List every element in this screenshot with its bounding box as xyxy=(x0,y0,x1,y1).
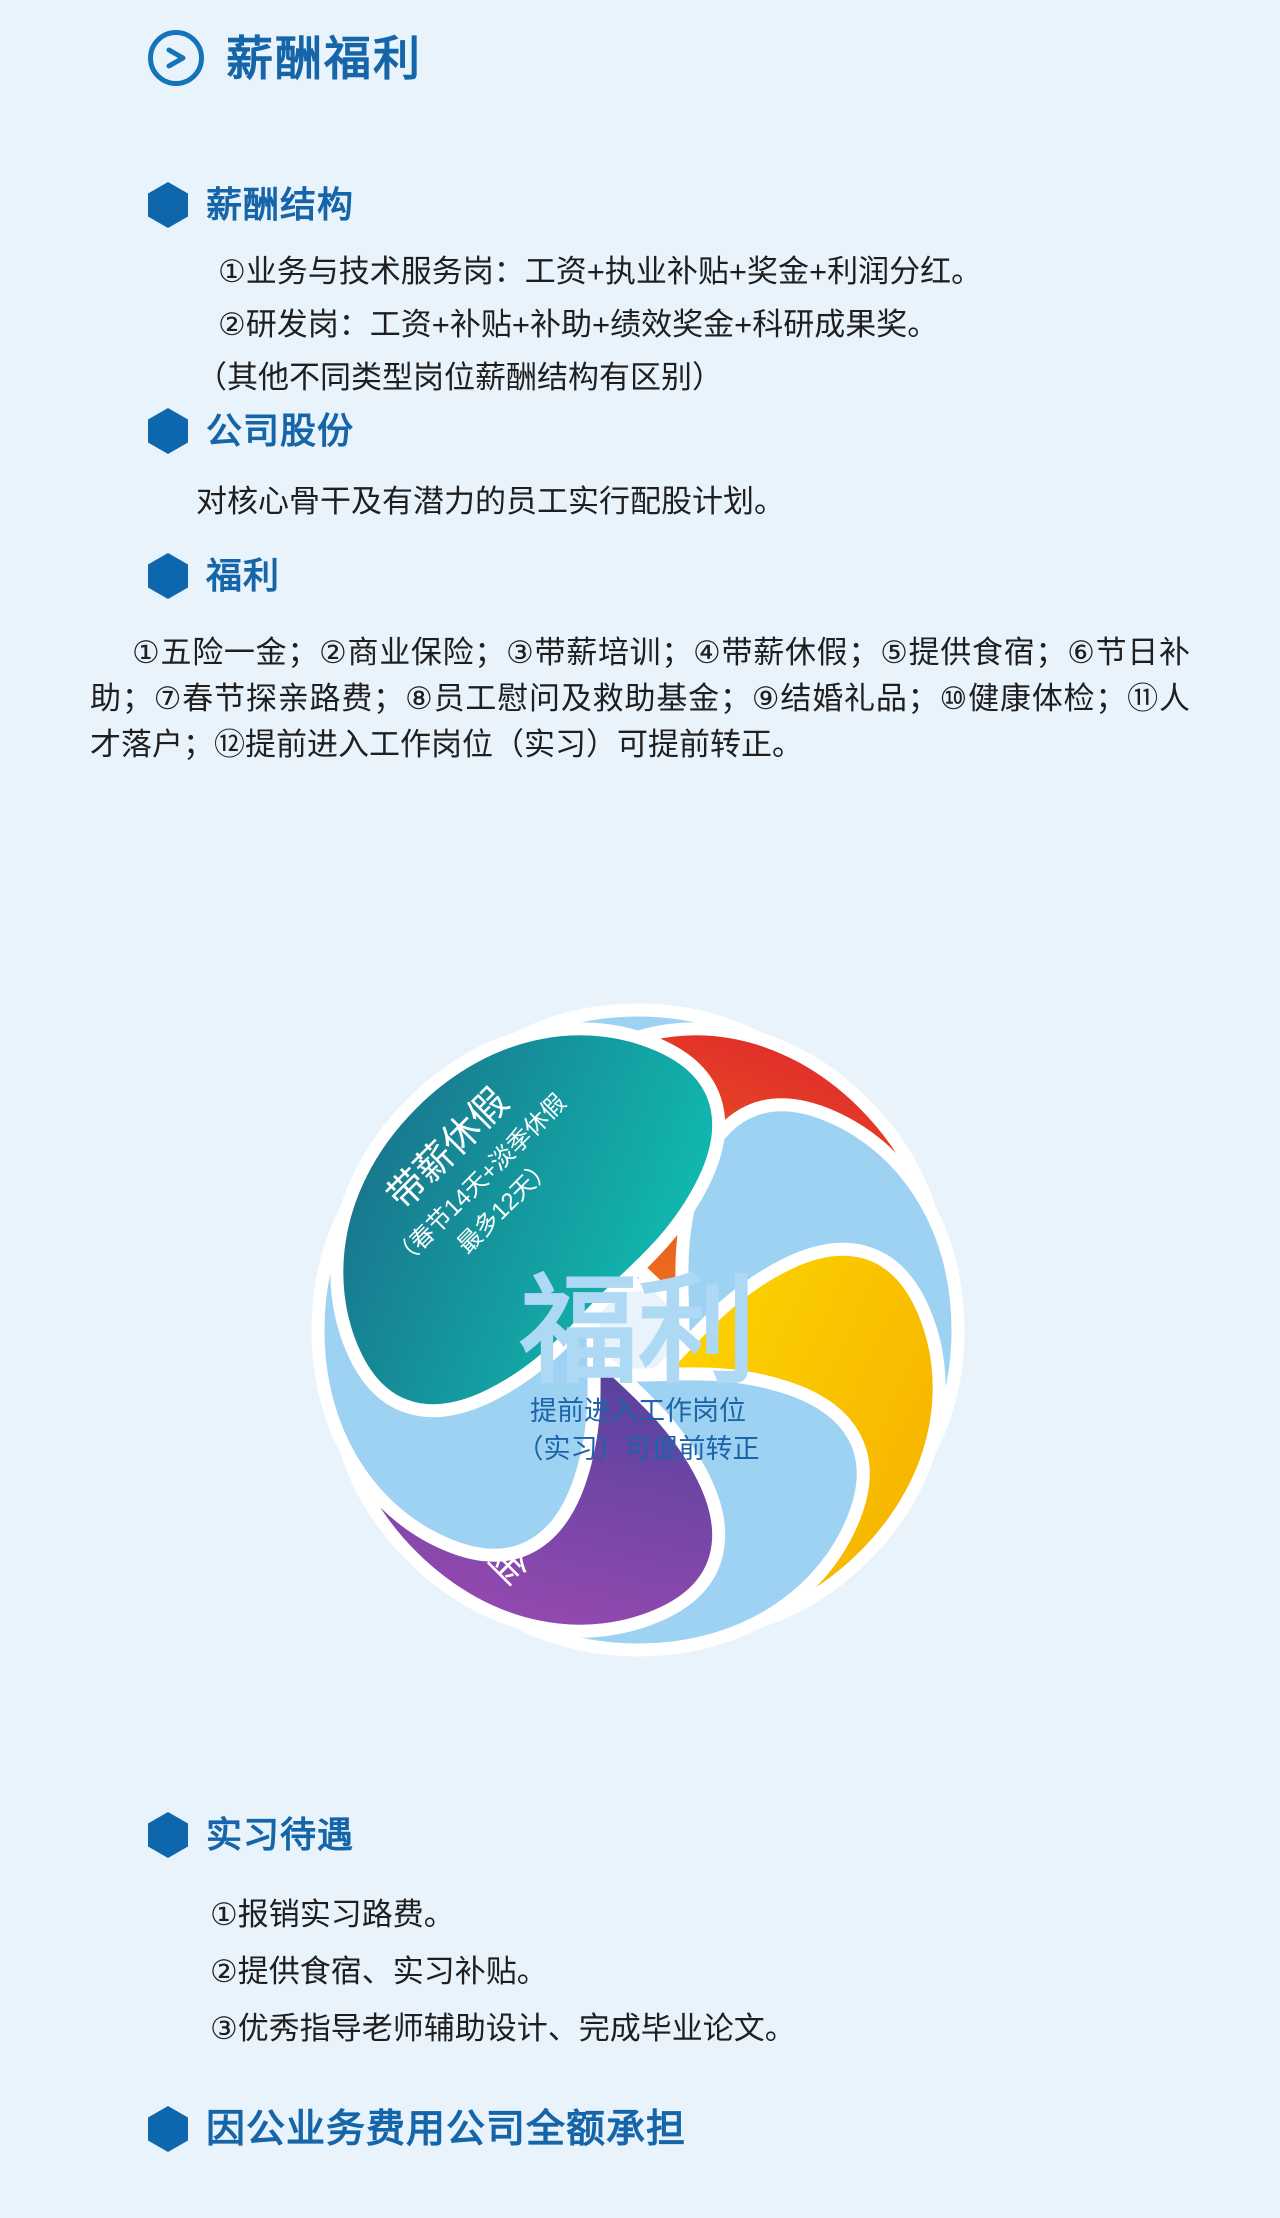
page-header: 薪酬福利 xyxy=(148,30,422,86)
intern-treatment-line-2: ②提供食宿、实习补贴。 xyxy=(210,1952,548,1993)
section-heading-salary-structure: 薪酬结构 xyxy=(148,182,354,228)
page-root: 薪酬福利 薪酬结构 ①业务与技术服务岗：工资+执业补贴+奖金+利润分红。 ②研发… xyxy=(0,0,1280,2218)
salary-structure-line-3: （其他不同类型岗位薪酬结构有区别） xyxy=(196,358,723,399)
section-heading-company-shares: 公司股份 xyxy=(148,408,354,454)
center-word: 福利 xyxy=(519,1266,756,1398)
intern-treatment-line-3: ③优秀指导老师辅助设计、完成毕业论文。 xyxy=(210,2009,796,2050)
section-title: 薪酬结构 xyxy=(206,187,354,223)
section-title: 实习待遇 xyxy=(206,1817,354,1853)
salary-structure-line-2: ②研发岗：工资+补贴+补助+绩效奖金+科研成果奖。 xyxy=(218,305,938,346)
center-sub-line-1: 提前进入工作岗位 xyxy=(530,1396,746,1426)
company-shares-line-1: 对核心骨干及有潜力的员工实行配股计划。 xyxy=(196,482,785,523)
benefits-flower-diagram: 人才 落户 五险一金 节日 补助 提供食宿 结婚 xyxy=(188,880,1088,1780)
hexagon-bullet-icon xyxy=(148,182,188,228)
circle-arrow-right-icon xyxy=(148,30,204,86)
center-sub-line-2: （实习）可提前转正 xyxy=(517,1434,760,1464)
hexagon-bullet-icon xyxy=(148,2106,188,2152)
section-heading-business-expense: 因公业务费用公司全额承担 xyxy=(148,2106,686,2152)
page-title: 薪酬福利 xyxy=(226,35,422,82)
benefits-paragraph: ①五险一金；②商业保险；③带薪培训；④带薪休假；⑤提供食宿；⑥节日补助；⑦春节探… xyxy=(90,630,1190,768)
intern-treatment-line-1: ①报销实习路费。 xyxy=(210,1895,455,1936)
section-title: 公司股份 xyxy=(206,413,354,449)
section-title: 福利 xyxy=(206,558,280,594)
hexagon-bullet-icon xyxy=(148,553,188,599)
hexagon-bullet-icon xyxy=(148,408,188,454)
salary-structure-line-1: ①业务与技术服务岗：工资+执业补贴+奖金+利润分红。 xyxy=(218,252,982,293)
section-title: 因公业务费用公司全额承担 xyxy=(206,2110,686,2149)
section-heading-intern-treatment: 实习待遇 xyxy=(148,1812,354,1858)
hexagon-bullet-icon xyxy=(148,1812,188,1858)
flower-center: 福利 提前进入工作岗位 （实习）可提前转正 xyxy=(517,1266,760,1464)
section-heading-benefits: 福利 xyxy=(148,553,280,599)
